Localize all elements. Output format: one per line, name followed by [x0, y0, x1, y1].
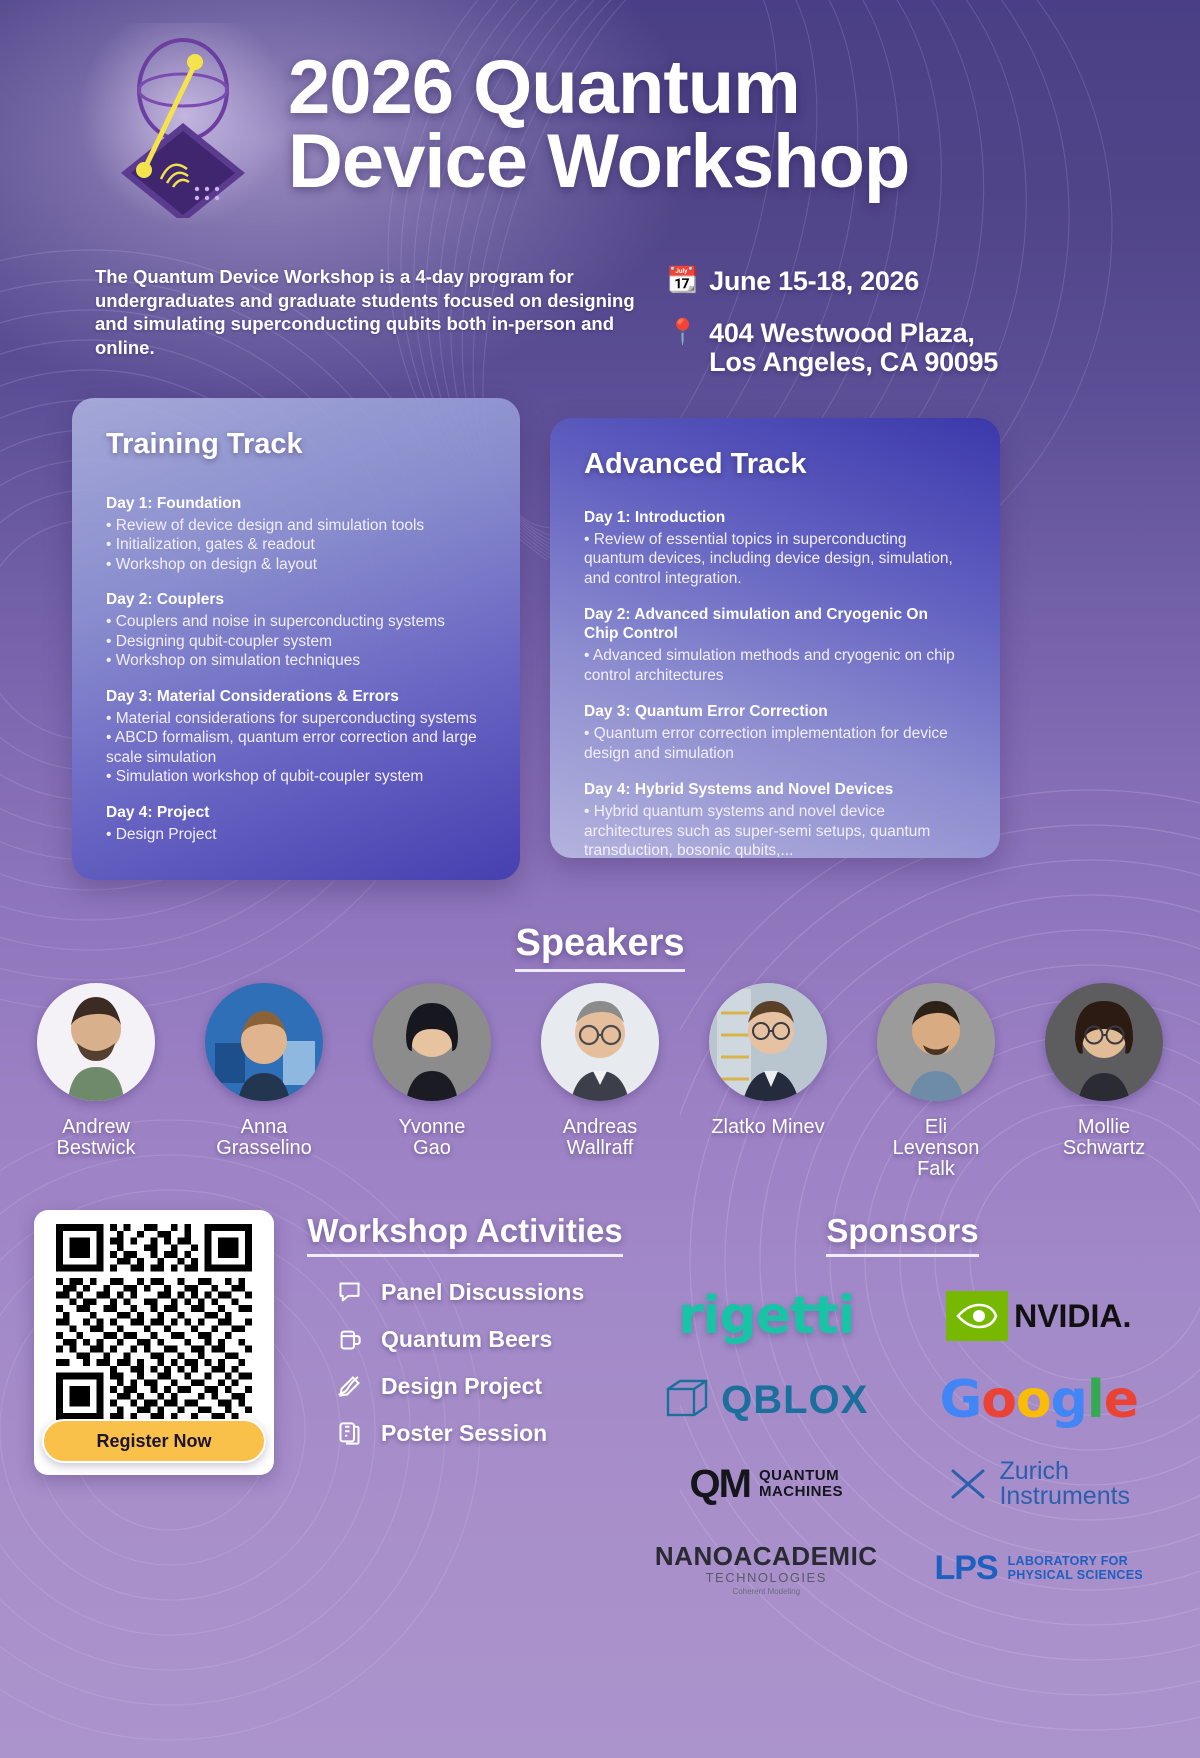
speaker-name: Andreas Wallraff: [526, 1117, 674, 1159]
workshop-description: The Quantum Device Workshop is a 4-day p…: [95, 265, 635, 400]
day-item: • Workshop on simulation techniques: [106, 651, 486, 671]
sponsors-section: Sponsors rigetti NVIDIA.: [630, 1212, 1175, 1607]
day-item: • Review of essential topics in supercon…: [584, 530, 966, 589]
avatar: [541, 983, 659, 1101]
day-item: • Simulation workshop of qubit-coupler s…: [106, 767, 486, 787]
speaker-card[interactable]: Yvonne Gao: [358, 983, 506, 1159]
avatar: [877, 983, 995, 1101]
sponsor-logo-cell[interactable]: rigetti: [630, 1277, 903, 1355]
day-item: • Designing qubit-coupler system: [106, 632, 486, 652]
qm-word-line2: MACHINES: [759, 1484, 843, 1500]
speakers-heading: Speakers: [0, 922, 1200, 972]
speakers-title: Speakers: [515, 922, 684, 972]
qblox-cube-icon: [664, 1377, 710, 1423]
lps-monogram: LPS: [934, 1549, 997, 1588]
training-track-panel: Training Track Day 1: Foundation • Revie…: [72, 398, 520, 880]
zurich-x-icon: [947, 1463, 989, 1505]
training-day-3: Day 3: Material Considerations & Errors …: [106, 688, 486, 787]
sponsor-logo-cell[interactable]: NVIDIA.: [903, 1277, 1176, 1355]
zurich-instruments-logo: Zurich Instruments: [947, 1459, 1130, 1510]
sponsor-logo-cell[interactable]: NANOACADEMIC TECHNOLOGIES Coherent Model…: [630, 1529, 903, 1607]
day-item: • Design Project: [106, 825, 486, 845]
quantum-chip-logo: [95, 28, 270, 218]
advanced-day-2: Day 2: Advanced simulation and Cryogenic…: [584, 606, 966, 685]
activity-item[interactable]: Quantum Beers: [300, 1326, 630, 1353]
speaker-card[interactable]: Anna Grasselino: [190, 983, 338, 1159]
avatar: [205, 983, 323, 1101]
sponsors-grid: rigetti NVIDIA.: [630, 1277, 1175, 1607]
day-title: Day 3: Material Considerations & Errors: [106, 688, 486, 707]
nanoacademic-tagline: Coherent Modeling: [655, 1587, 878, 1596]
sponsor-logo-cell[interactable]: LPS LABORATORY FOR PHYSICAL SCIENCES: [903, 1529, 1176, 1607]
sponsor-logo-cell[interactable]: QM QUANTUM MACHINES: [630, 1445, 903, 1523]
qblox-wordmark: QBLOX: [721, 1378, 868, 1423]
page-title: 2026 Quantum Device Workshop: [288, 51, 909, 198]
day-title: Day 3: Quantum Error Correction: [584, 703, 966, 722]
nanoacademic-logo: NANOACADEMIC TECHNOLOGIES Coherent Model…: [655, 1541, 878, 1596]
sponsor-logo-cell[interactable]: QBLOX: [630, 1361, 903, 1439]
event-location: 📍 404 Westwood Plaza, Los Angeles, CA 90…: [667, 319, 998, 378]
speaker-name: Andrew Bestwick: [22, 1117, 170, 1159]
intro-row: The Quantum Device Workshop is a 4-day p…: [0, 265, 1200, 400]
activity-label: Panel Discussions: [381, 1279, 584, 1306]
rigetti-logo: rigetti: [678, 1286, 855, 1346]
event-date: 📆 June 15-18, 2026: [667, 267, 998, 297]
speaker-card[interactable]: Mollie Schwartz: [1030, 983, 1178, 1159]
poster-header: 2026 Quantum Device Workshop: [0, 0, 1200, 245]
day-title: Day 1: Introduction: [584, 509, 966, 528]
training-track-title: Training Track: [106, 428, 486, 461]
activity-item[interactable]: Design Project: [300, 1373, 630, 1400]
avatar: [37, 983, 155, 1101]
lps-wordmark: LABORATORY FOR PHYSICAL SCIENCES: [1008, 1554, 1143, 1583]
nanoacademic-wordmark: NANOACADEMIC: [655, 1541, 878, 1572]
day-item: • Quantum error correction implementatio…: [584, 724, 966, 763]
poster-board-icon: [336, 1420, 363, 1447]
calendar-icon: 📆: [667, 267, 698, 293]
training-day-1: Day 1: Foundation • Review of device des…: [106, 495, 486, 574]
workshop-activities-section: Workshop Activities Panel Discussions Qu…: [300, 1212, 630, 1467]
day-title: Day 1: Foundation: [106, 495, 486, 514]
zurich-wordmark: Zurich Instruments: [999, 1459, 1130, 1510]
day-item: • Material considerations for supercondu…: [106, 709, 486, 729]
advanced-track-panel: Advanced Track Day 1: Introduction • Rev…: [550, 418, 1000, 858]
day-item: • Review of device design and simulation…: [106, 516, 486, 536]
qm-monogram: QM: [690, 1462, 750, 1507]
speaker-card[interactable]: Eli Levenson Falk: [862, 983, 1010, 1181]
day-item: • Advanced simulation methods and cryoge…: [584, 646, 966, 685]
register-now-button[interactable]: Register Now: [42, 1419, 266, 1463]
registration-qr-code[interactable]: [48, 1224, 260, 1420]
speaker-card[interactable]: Zlatko Minev: [694, 983, 842, 1138]
nvidia-eye-icon: [946, 1291, 1008, 1341]
advanced-day-1: Day 1: Introduction • Review of essentia…: [584, 509, 966, 588]
qblox-logo: QBLOX: [664, 1377, 868, 1423]
speaker-card[interactable]: Andreas Wallraff: [526, 983, 674, 1159]
poster-canvas: 2026 Quantum Device Workshop The Quantum…: [0, 0, 1200, 1758]
sponsors-heading: Sponsors: [630, 1212, 1175, 1257]
activities-title: Workshop Activities: [307, 1212, 622, 1257]
activity-item[interactable]: Poster Session: [300, 1420, 630, 1447]
lps-line1: LABORATORY FOR: [1008, 1554, 1143, 1568]
registration-card: Register Now: [34, 1210, 274, 1475]
day-item: • Hybrid quantum systems and novel devic…: [584, 802, 966, 858]
day-item: • ABCD formalism, quantum error correcti…: [106, 728, 486, 767]
activities-list: Panel Discussions Quantum Beers Design P…: [300, 1279, 630, 1447]
activities-heading: Workshop Activities: [300, 1212, 630, 1257]
sponsor-logo-cell[interactable]: Zurich Instruments: [903, 1445, 1176, 1523]
speaker-name: Zlatko Minev: [694, 1117, 842, 1138]
title-block: 2026 Quantum Device Workshop: [288, 51, 909, 198]
training-day-2: Day 2: Couplers • Couplers and noise in …: [106, 591, 486, 670]
day-title: Day 2: Advanced simulation and Cryogenic…: [584, 606, 966, 644]
event-date-text: June 15-18, 2026: [709, 267, 919, 297]
lps-logo: LPS LABORATORY FOR PHYSICAL SCIENCES: [934, 1549, 1143, 1588]
speaker-name: Anna Grasselino: [190, 1117, 338, 1159]
event-location-text: 404 Westwood Plaza, Los Angeles, CA 9009…: [709, 319, 998, 378]
location-pin-icon: 📍: [667, 319, 698, 345]
advanced-day-3: Day 3: Quantum Error Correction • Quantu…: [584, 703, 966, 763]
day-item: • Initialization, gates & readout: [106, 535, 486, 555]
speaker-name: Eli Levenson Falk: [862, 1117, 1010, 1181]
avatar: [1045, 983, 1163, 1101]
sponsor-logo-cell[interactable]: Google: [903, 1361, 1176, 1439]
quantum-machines-logo: QM QUANTUM MACHINES: [690, 1462, 843, 1507]
day-item: • Workshop on design & layout: [106, 555, 486, 575]
activity-label: Poster Session: [381, 1420, 547, 1447]
day-title: Day 4: Hybrid Systems and Novel Devices: [584, 781, 966, 800]
sponsors-title: Sponsors: [826, 1212, 978, 1257]
advanced-track-title: Advanced Track: [584, 448, 966, 481]
speech-bubble-icon: [336, 1279, 363, 1306]
day-title: Day 2: Couplers: [106, 591, 486, 610]
speaker-name: Yvonne Gao: [358, 1117, 506, 1159]
event-meta: 📆 June 15-18, 2026 📍 404 Westwood Plaza,…: [667, 265, 998, 400]
training-day-4: Day 4: Project • Design Project: [106, 804, 486, 844]
lps-line2: PHYSICAL SCIENCES: [1008, 1568, 1143, 1582]
google-logo: Google: [940, 1370, 1139, 1430]
activity-label: Quantum Beers: [381, 1326, 552, 1353]
day-item: • Couplers and noise in superconducting …: [106, 612, 486, 632]
activity-label: Design Project: [381, 1373, 542, 1400]
speaker-name: Mollie Schwartz: [1030, 1117, 1178, 1159]
speakers-row: Andrew Bestwick Anna Grasselino: [22, 983, 1178, 1181]
avatar: [373, 983, 491, 1101]
beer-mug-icon: [336, 1326, 363, 1353]
activity-item[interactable]: Panel Discussions: [300, 1279, 630, 1306]
nvidia-eye-glyph: [952, 1298, 1002, 1334]
zurich-line1: Zurich: [999, 1459, 1130, 1485]
zurich-line2: Instruments: [999, 1484, 1130, 1510]
nanoacademic-subtitle: TECHNOLOGIES: [655, 1570, 878, 1585]
pencil-ruler-icon: [336, 1373, 363, 1400]
nvidia-logo: NVIDIA.: [946, 1291, 1131, 1341]
day-title: Day 4: Project: [106, 804, 486, 823]
qm-word-line1: QUANTUM: [759, 1468, 843, 1484]
nvidia-wordmark: NVIDIA.: [1014, 1298, 1131, 1335]
advanced-day-4: Day 4: Hybrid Systems and Novel Devices …: [584, 781, 966, 858]
speaker-card[interactable]: Andrew Bestwick: [22, 983, 170, 1159]
qm-wordmark: QUANTUM MACHINES: [759, 1468, 843, 1500]
avatar: [709, 983, 827, 1101]
